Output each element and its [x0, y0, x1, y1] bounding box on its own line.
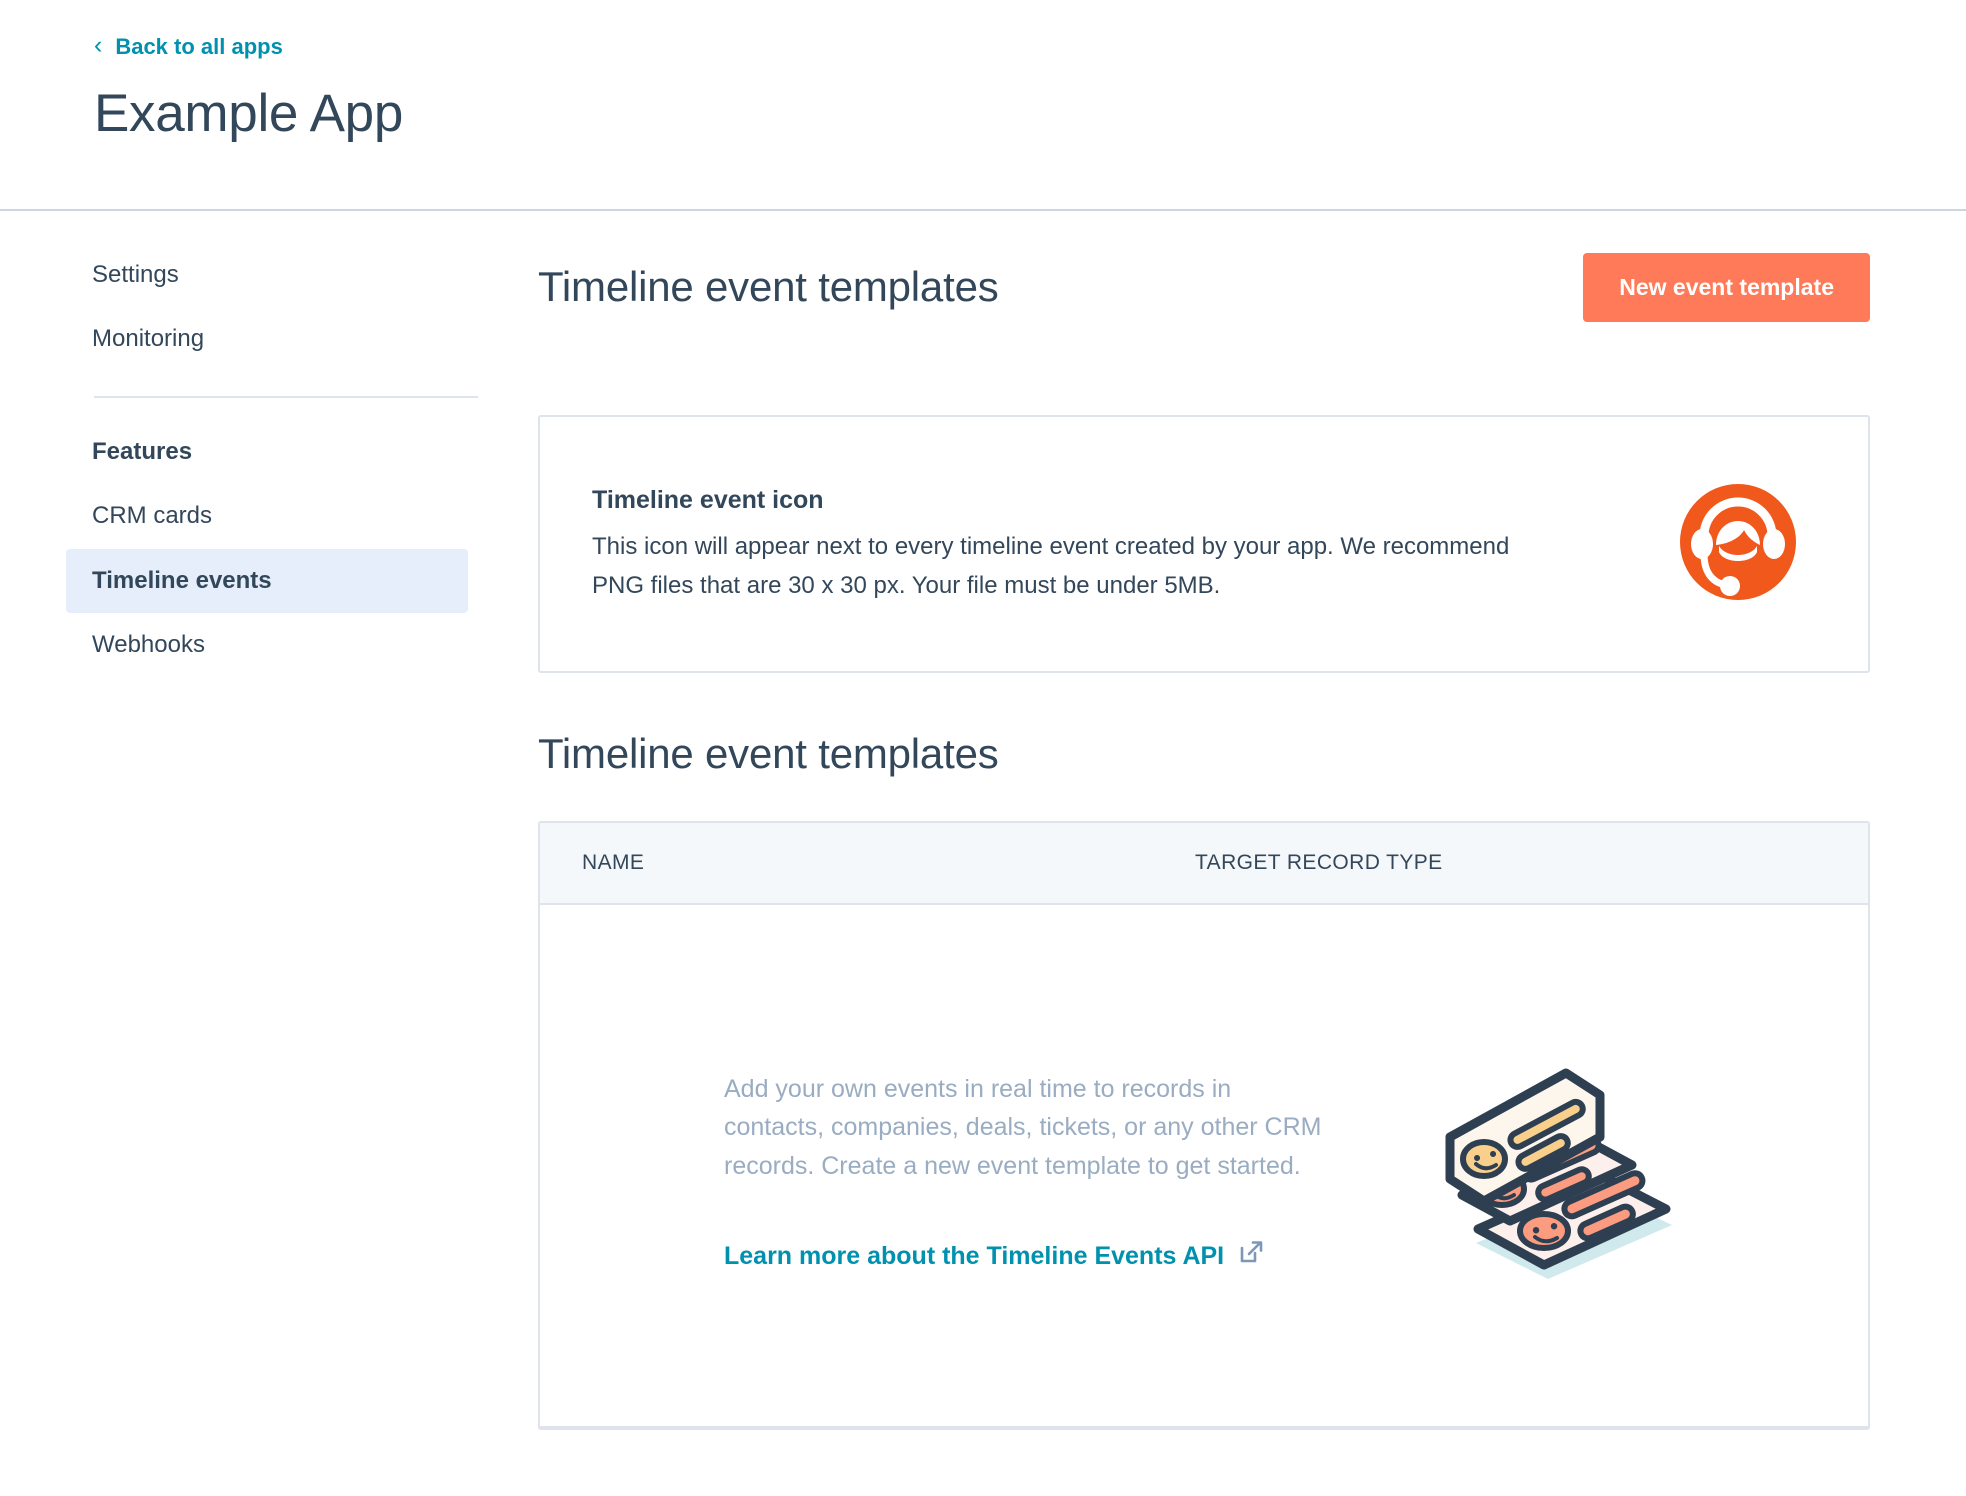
support-agent-headset-avatar-icon [1678, 482, 1798, 607]
icon-card-title: Timeline event icon [592, 482, 1512, 520]
new-event-template-button[interactable]: New event template [1583, 253, 1870, 322]
timeline-event-templates-table: NAME TARGET RECORD TYPE Add your own eve… [538, 821, 1870, 1430]
back-to-all-apps-link[interactable]: ‹ Back to all apps [94, 34, 283, 59]
empty-state-message: Add your own events in real time to reco… [724, 1070, 1324, 1186]
sidebar-divider [94, 396, 478, 398]
column-header-name: NAME [582, 851, 1195, 875]
isometric-stacked-event-cards-illustration [1404, 1033, 1684, 1308]
sidebar-item-label: CRM cards [92, 502, 212, 529]
timeline-event-icon-card: Timeline event icon This icon will appea… [538, 415, 1870, 673]
icon-card-description: This icon will appear next to every time… [592, 528, 1512, 606]
table-header-row: NAME TARGET RECORD TYPE [540, 823, 1868, 905]
icon-card-text-block: Timeline event icon This icon will appea… [592, 482, 1512, 605]
column-header-target-record-type: TARGET RECORD TYPE [1195, 851, 1826, 875]
sidebar-item-timeline-events[interactable]: Timeline events [66, 549, 468, 613]
chevron-left-icon: ‹ [94, 33, 102, 58]
sidebar-item-monitoring[interactable]: Monitoring [66, 307, 468, 371]
section-title-timeline-event-templates: Timeline event templates [538, 730, 1870, 778]
body-wrapper: Settings Monitoring Features CRM cards T… [0, 211, 1966, 1430]
sidebar-item-webhooks[interactable]: Webhooks [66, 613, 468, 677]
back-to-all-apps-label: Back to all apps [115, 36, 283, 58]
sidebar-item-label: Monitoring [92, 325, 204, 352]
external-link-icon [1238, 1239, 1264, 1272]
sidebar-item-label: Settings [92, 261, 179, 288]
learn-more-label: Learn more about the Timeline Events API [724, 1241, 1224, 1271]
sidebar-item-label: Timeline events [92, 567, 272, 594]
sidebar-navigation: Settings Monitoring Features CRM cards T… [0, 211, 500, 677]
sidebar-item-crm-cards[interactable]: CRM cards [66, 484, 468, 548]
sidebar-item-settings[interactable]: Settings [66, 243, 468, 307]
sidebar-item-label: Webhooks [92, 631, 205, 658]
page-title: Example App [94, 86, 1966, 142]
sidebar-group-features: Features [66, 420, 468, 484]
table-empty-state: Add your own events in real time to reco… [540, 905, 1868, 1426]
empty-state-text-block: Add your own events in real time to reco… [724, 1070, 1324, 1273]
page-header: ‹ Back to all apps Example App [0, 0, 1966, 211]
main-page-title: Timeline event templates [538, 263, 999, 311]
main-content: Timeline event templates New event templ… [500, 211, 1966, 1430]
timeline-events-api-learn-more-link[interactable]: Learn more about the Timeline Events API [724, 1239, 1264, 1272]
main-header-row: Timeline event templates New event templ… [538, 243, 1870, 331]
